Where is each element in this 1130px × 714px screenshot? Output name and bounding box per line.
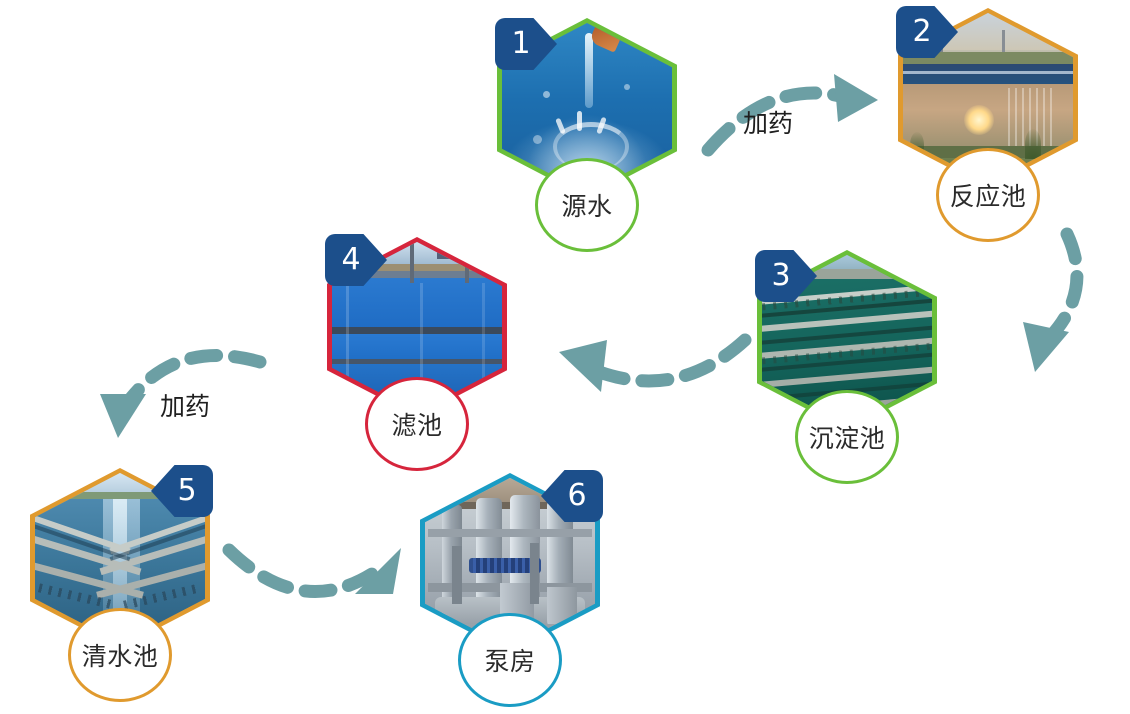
node-label-circle-3: 沉淀池 xyxy=(795,390,899,484)
process-node-5[interactable]: 5 清水池 xyxy=(30,468,210,678)
arrow-sedimentation-to-filter xyxy=(545,318,760,408)
process-node-2[interactable]: 2 反应池 xyxy=(898,8,1078,218)
node-label-text: 源水 xyxy=(561,187,612,223)
step-number: 5 xyxy=(151,465,213,517)
arrow-label-dosing-2: 加药 xyxy=(160,387,210,423)
step-badge-6: 6 xyxy=(541,470,603,522)
process-node-3[interactable]: 3 沉淀池 xyxy=(757,250,937,460)
step-number: 3 xyxy=(755,250,817,302)
process-node-6[interactable]: 6 泵房 xyxy=(420,473,600,683)
step-badge-2: 2 xyxy=(896,6,958,58)
arrow-clearwater-to-pump xyxy=(215,532,425,642)
step-number: 4 xyxy=(325,234,387,286)
node-label-circle-1: 源水 xyxy=(535,158,639,252)
node-label-circle-2: 反应池 xyxy=(936,148,1040,242)
node-label-circle-4: 滤池 xyxy=(365,377,469,471)
process-node-4[interactable]: 4 滤池 xyxy=(327,237,507,447)
node-label-text: 泵房 xyxy=(484,642,535,678)
process-flow-diagram: 加药 加药 xyxy=(0,0,1130,714)
node-label-text: 清水池 xyxy=(82,637,159,673)
step-badge-3: 3 xyxy=(755,250,817,302)
node-label-text: 沉淀池 xyxy=(809,419,886,455)
node-label-circle-5: 清水池 xyxy=(68,608,172,702)
node-label-text: 滤池 xyxy=(391,406,442,442)
step-badge-1: 1 xyxy=(495,18,557,70)
node-label-circle-6: 泵房 xyxy=(458,613,562,707)
step-number: 2 xyxy=(896,6,958,58)
step-number: 6 xyxy=(541,470,603,522)
step-badge-4: 4 xyxy=(325,234,387,286)
step-badge-5: 5 xyxy=(151,465,213,517)
process-node-1[interactable]: 1 源水 xyxy=(497,18,677,228)
node-label-text: 反应池 xyxy=(950,177,1027,213)
step-number: 1 xyxy=(495,18,557,70)
arrow-label-dosing-1: 加药 xyxy=(743,104,793,140)
arrow-source-to-reaction xyxy=(700,60,890,160)
arrow-reaction-to-sedimentation xyxy=(995,228,1125,388)
